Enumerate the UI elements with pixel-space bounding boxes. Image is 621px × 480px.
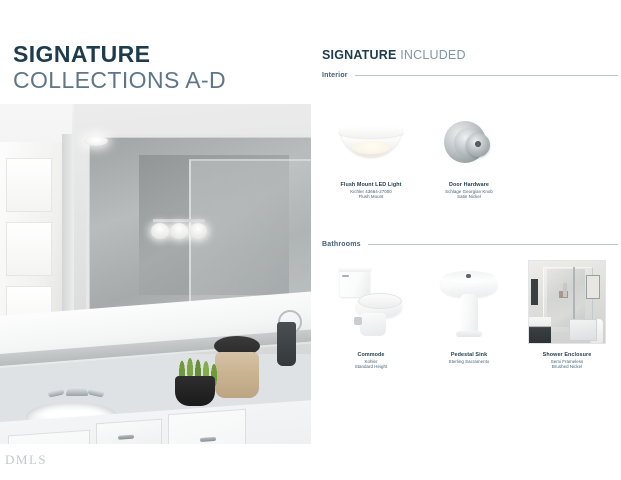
product-caption: Commode Kohler Standard Height [355,352,387,370]
section-label: Interior [322,72,348,79]
light-bulb [151,223,169,239]
faucet-handle-right [88,388,105,397]
product-card[interactable]: Commode Kohler Standard Height [322,256,420,370]
mls-watermark: DMLS [5,452,47,468]
section-label: Bathrooms [322,241,361,248]
hand-towel [277,322,296,366]
cabinet-door [8,430,90,444]
product-grid-interior: Flush Mount LED Light Kichler 43664-2700… [322,106,618,200]
faucet [48,387,104,401]
included-header: SIGNATURE INCLUDED [322,48,466,62]
faucet-handle-left [48,388,65,397]
product-card[interactable]: Shower Enclosure Semi Frameless Brushed … [518,256,616,370]
light-bulb [189,223,207,239]
product-name: Door Hardware [445,182,493,189]
vanity-light-reflection [151,219,207,241]
product-card[interactable]: Flush Mount LED Light Kichler 43664-2700… [322,106,420,200]
product-caption: Flush Mount LED Light Kichler 43664-2700… [340,182,401,200]
included-header-light: INCLUDED [400,48,466,62]
product-card-empty [518,106,616,200]
title-line-2: COLLECTIONS A-D [13,67,303,94]
faucet-spout [66,387,88,396]
section-rule [368,244,618,245]
included-header-strong: SIGNATURE [322,48,397,62]
pedestal-sink-icon [423,256,515,348]
product-name: Shower Enclosure [543,352,592,359]
brochure-page: SIGNATURE COLLECTIONS A-D [0,0,621,480]
light-bulb [170,223,188,239]
section-rule [355,75,618,76]
shower-enclosure-photo [521,256,613,348]
product-card[interactable]: Pedestal Sink Sterling Sacramento [420,256,518,370]
product-caption: Door Hardware Schlage Georgian Knob Sati… [445,182,493,200]
product-caption: Pedestal Sink Sterling Sacramento [449,352,490,364]
cabinet-drawer [96,419,162,444]
product-grid-bathrooms: Commode Kohler Standard Height P [322,256,618,370]
product-sub2: Satin Nickel [445,194,493,200]
door-panel [6,222,52,276]
door-panel [6,158,52,212]
product-card[interactable]: Door Hardware Schlage Georgian Knob Sati… [420,106,518,200]
door-knob-icon [423,106,515,178]
light-bar [153,219,205,222]
product-name: Commode [355,352,387,359]
product-name: Flush Mount LED Light [340,182,401,189]
product-sub2: Flush Mount [340,194,401,200]
flush-mount-light-icon [325,106,417,178]
section-header-interior: Interior [322,72,618,79]
product-caption: Shower Enclosure Semi Frameless Brushed … [543,352,592,370]
recessed-ceiling-light [84,136,108,146]
product-sub1: Sterling Sacramento [449,359,490,365]
title-line-1: SIGNATURE [13,42,303,67]
hero-bathroom-photo [0,104,311,444]
toilet-icon [325,256,417,348]
right-column: SIGNATURE INCLUDED Interior Flush Mount … [318,0,621,480]
page-title: SIGNATURE COLLECTIONS A-D [13,42,303,94]
mirror-shower-reflection [189,159,311,311]
product-sub2: Brushed Nickel [543,364,592,370]
product-name: Pedestal Sink [449,352,490,359]
left-column: SIGNATURE COLLECTIONS A-D [0,0,311,480]
plant-pot [175,376,215,406]
section-header-bathrooms: Bathrooms [322,241,618,248]
product-sub2: Standard Height [355,364,387,370]
